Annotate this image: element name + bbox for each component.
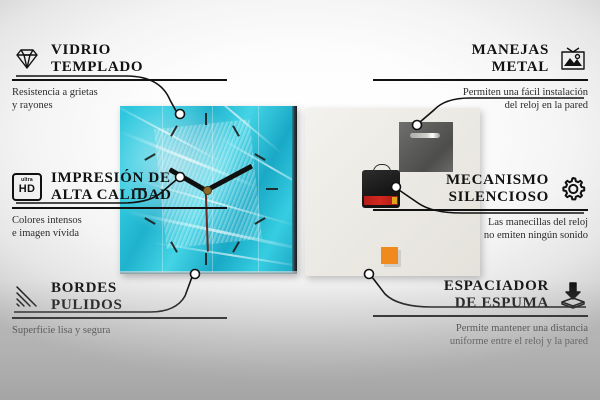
feature-impresion-alta-calidad[interactable]: ultra HD IMPRESIÓN DE ALTA CALIDAD Color…: [12, 170, 227, 240]
gear-icon: [558, 174, 588, 204]
clock-bottom-edge: [120, 271, 297, 274]
metal-hanger-plate: [399, 122, 453, 172]
feature-mecanismo-silencioso[interactable]: MECANISMO SILENCIOSO Las manecillas del …: [373, 172, 588, 242]
clock-glass-edge: [292, 106, 297, 274]
feature-subtitle: Permite mantener una distancia uniforme …: [373, 322, 588, 348]
feature-subtitle: Superficie lisa y segura: [12, 324, 227, 337]
feature-vidrio-templado[interactable]: VIDRIO TEMPLADO Resistencia a grietas y …: [12, 42, 227, 112]
feature-subtitle: Resistencia a grietas y rayones: [12, 86, 227, 112]
feature-title: ESPACIADOR DE ESPUMA: [444, 278, 549, 312]
product-feature-infographic: VIDRIO TEMPLADO Resistencia a grietas y …: [0, 0, 600, 400]
feature-manejas-metal[interactable]: MANEJAS METAL Permiten una fácil instala…: [373, 42, 588, 112]
feature-header: BORDES PULIDOS: [12, 280, 227, 314]
clock-tick: [205, 253, 207, 265]
clock-tick: [144, 153, 155, 161]
ultra-hd-icon: ultra HD: [12, 172, 42, 202]
feature-divider: [12, 207, 227, 209]
diamond-icon: [12, 44, 42, 74]
clock-tick: [266, 188, 278, 190]
clock-tick: [205, 113, 207, 125]
feature-title: VIDRIO TEMPLADO: [51, 42, 143, 76]
feature-header: MECANISMO SILENCIOSO: [373, 172, 588, 206]
foam-spacer-arrow-icon: [558, 280, 588, 310]
feature-header: ultra HD IMPRESIÓN DE ALTA CALIDAD: [12, 170, 227, 204]
feature-header: MANEJAS METAL: [373, 42, 588, 76]
feature-divider: [373, 79, 588, 81]
feature-bordes-pulidos[interactable]: BORDES PULIDOS Superficie lisa y segura: [12, 280, 227, 337]
polished-edges-icon: [12, 282, 42, 312]
feature-divider: [373, 315, 588, 317]
ultra-hd-icon-main-text: HD: [19, 184, 36, 195]
feature-espaciador-espuma[interactable]: ESPACIADOR DE ESPUMA Permite mantener un…: [373, 278, 588, 348]
feature-subtitle: Colores intensos e imagen vívida: [12, 214, 227, 240]
foam-spacer-pad: [381, 247, 398, 264]
feature-title: IMPRESIÓN DE ALTA CALIDAD: [51, 170, 172, 204]
picture-hanger-icon: [558, 44, 588, 74]
feature-subtitle: Las manecillas del reloj no emiten ningú…: [373, 216, 588, 242]
feature-divider: [12, 79, 227, 81]
feature-divider: [373, 209, 588, 211]
feature-header: ESPACIADOR DE ESPUMA: [373, 278, 588, 312]
hanger-slot: [410, 133, 440, 138]
feature-subtitle: Permiten una fácil instalación del reloj…: [373, 86, 588, 112]
glass-panel-seam: [258, 106, 259, 274]
feature-header: VIDRIO TEMPLADO: [12, 42, 227, 76]
clock-tick: [232, 241, 240, 252]
feature-title: MANEJAS METAL: [472, 42, 549, 76]
feature-title: BORDES PULIDOS: [51, 280, 123, 314]
feature-divider: [12, 317, 227, 319]
feature-title: MECANISMO SILENCIOSO: [446, 172, 549, 206]
